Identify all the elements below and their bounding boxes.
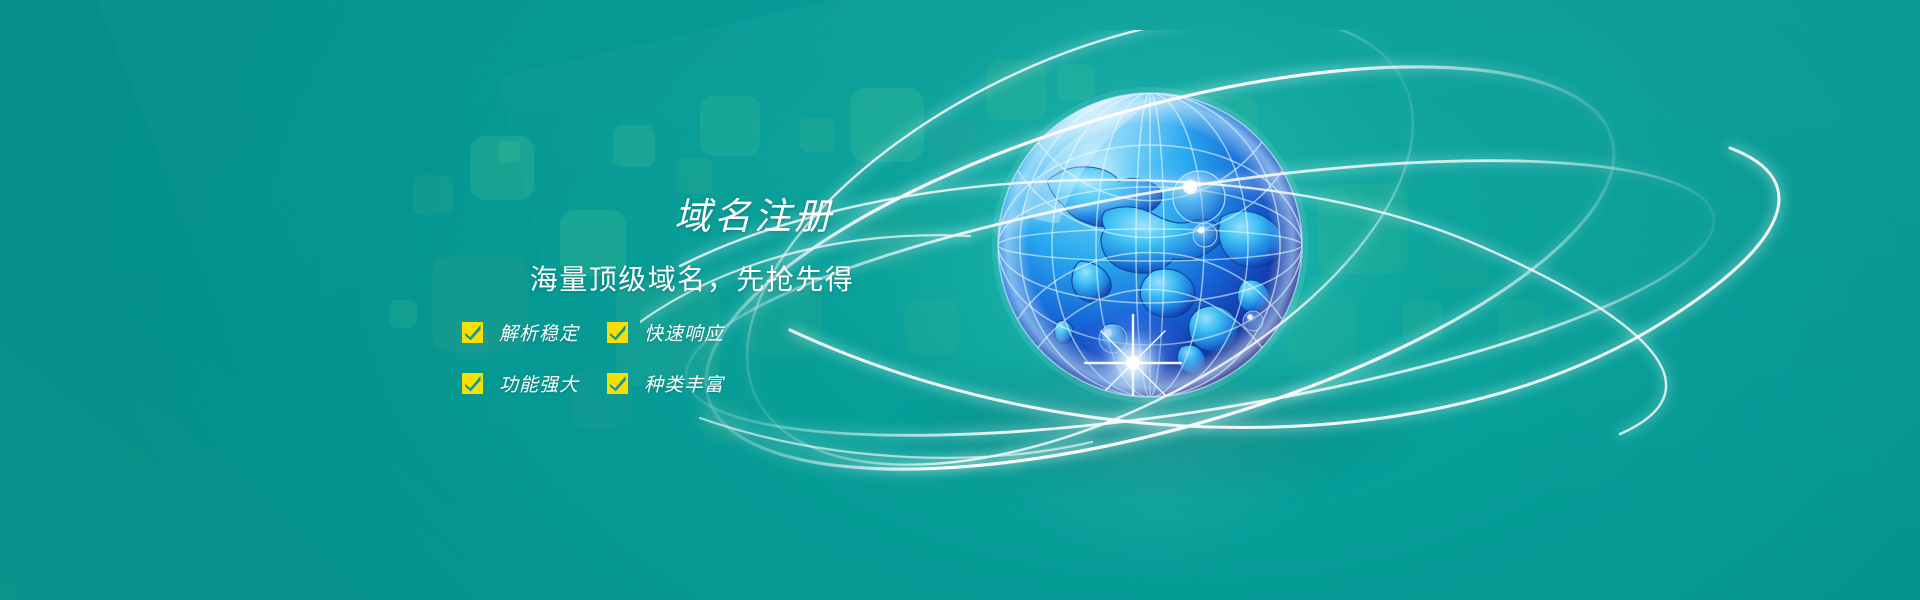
domain-registration-banner: 域名注册 海量顶级域名，先抢先得 解析稳定快速响应功能强大种类丰富	[0, 0, 1920, 600]
feature-item[interactable]: 种类丰富	[607, 370, 752, 397]
feature-item[interactable]: 快速响应	[607, 319, 752, 346]
check-square-icon	[462, 373, 483, 394]
page-title: 域名注册	[400, 195, 960, 239]
feature-label: 功能强大	[499, 370, 579, 397]
feature-label: 解析稳定	[499, 319, 579, 346]
feature-label: 快速响应	[644, 319, 724, 346]
check-square-icon	[607, 373, 628, 394]
feature-item[interactable]: 功能强大	[462, 370, 607, 397]
check-square-icon	[607, 322, 628, 343]
feature-list: 解析稳定快速响应功能强大种类丰富	[462, 319, 752, 397]
check-square-icon	[462, 322, 483, 343]
banner-copy: 域名注册 海量顶级域名，先抢先得 解析稳定快速响应功能强大种类丰富	[400, 195, 960, 397]
feature-label: 种类丰富	[644, 370, 724, 397]
globe-artwork	[985, 85, 1315, 415]
banner-subtitle: 海量顶级域名，先抢先得	[400, 258, 960, 298]
blue-globe-icon	[985, 85, 1315, 415]
feature-item[interactable]: 解析稳定	[462, 319, 607, 346]
